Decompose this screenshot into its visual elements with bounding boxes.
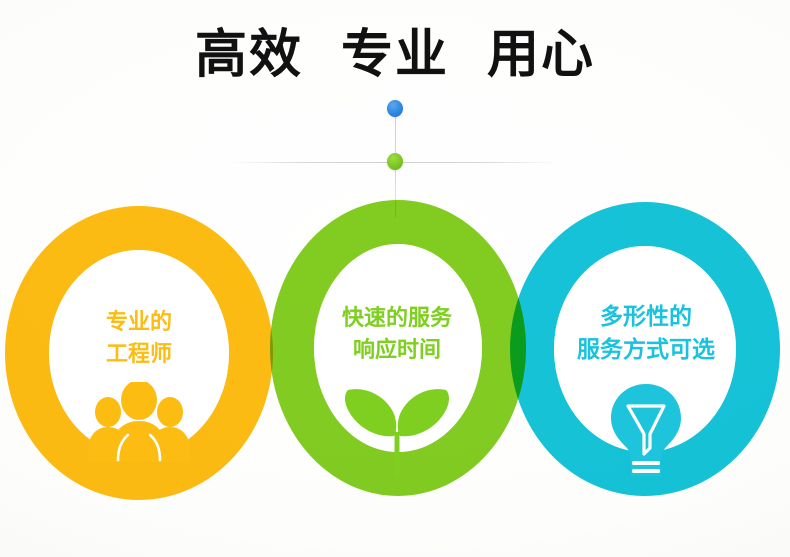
poster-canvas: 高效专业用心 [0, 0, 790, 557]
card-text-engineers: 专业的 工程师 [0, 306, 278, 370]
card-line: 工程师 [0, 338, 278, 370]
card-text-response-time: 快速的服务 响应时间 [266, 302, 528, 366]
card-line: 快速的服务 [266, 302, 528, 334]
card-line: 专业的 [0, 306, 278, 338]
card-text-service-options: 多形性的 服务方式可选 [500, 300, 790, 367]
card-line: 服务方式可选 [500, 333, 790, 366]
card-line: 多形性的 [500, 300, 790, 333]
card-line: 响应时间 [266, 334, 528, 366]
